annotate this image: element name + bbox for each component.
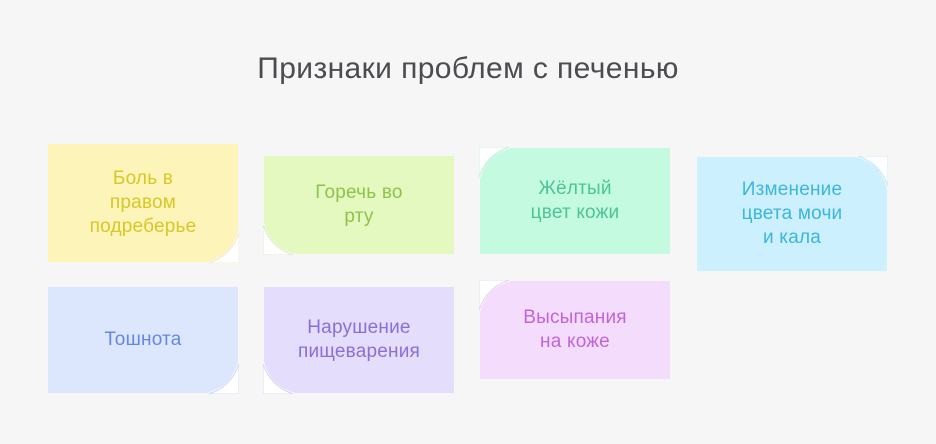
note-label: Высыпания на коже (523, 306, 627, 354)
card-bitter-taste[interactable]: Горечь во рту (264, 156, 454, 254)
card-skin-rash[interactable]: Высыпания на коже (480, 281, 670, 379)
note-label: Боль в правом подреберье (90, 167, 197, 239)
symptom-card-board: Боль в правом подреберье Горечь во рту Ж… (0, 0, 936, 444)
card-nausea[interactable]: Тошнота (48, 287, 238, 393)
card-digestion-disorder[interactable]: Нарушение пищеварения (264, 287, 454, 393)
note-label: Жёлтый цвет кожи (531, 177, 620, 225)
note-label: Нарушение пищеварения (298, 316, 420, 364)
note-label: Изменение цвета мочи и кала (742, 178, 843, 250)
card-yellow-skin[interactable]: Жёлтый цвет кожи (480, 148, 670, 254)
note-label: Тошнота (104, 328, 181, 352)
card-urine-stool-color[interactable]: Изменение цвета мочи и кала (697, 157, 887, 271)
note-label: Горечь во рту (315, 181, 402, 229)
card-pain-right-hypochondrium[interactable]: Боль в правом подреберье (48, 144, 238, 262)
